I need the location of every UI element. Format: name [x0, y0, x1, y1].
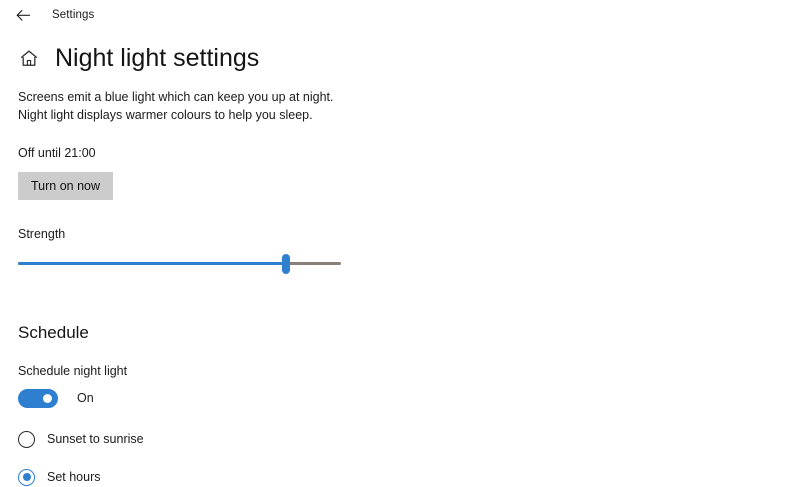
radio-sunset-to-sunrise[interactable]: Sunset to sunrise [18, 429, 782, 449]
night-light-status: Off until 21:00 [18, 145, 782, 161]
page-description: Screens emit a blue light which can keep… [18, 88, 348, 124]
schedule-night-light-toggle[interactable] [18, 389, 58, 408]
home-icon[interactable] [18, 47, 40, 69]
back-button[interactable] [10, 4, 36, 26]
turn-on-now-button[interactable]: Turn on now [18, 172, 113, 200]
page-title: Night light settings [55, 43, 259, 73]
radio-icon-selected [18, 469, 35, 486]
radio-label-sunset-to-sunrise: Sunset to sunrise [47, 431, 144, 447]
settings-page: Night light settings Screens emit a blue… [0, 41, 800, 487]
schedule-night-light-label: Schedule night light [18, 363, 782, 379]
schedule-heading: Schedule [18, 322, 782, 344]
toggle-state-label: On [77, 390, 94, 406]
window-title: Settings [52, 9, 94, 21]
radio-icon-unselected [18, 431, 35, 448]
page-header: Night light settings [18, 41, 782, 75]
radio-label-set-hours: Set hours [47, 469, 101, 485]
slider-fill [18, 262, 286, 265]
schedule-toggle-row: On [18, 388, 782, 408]
toggle-knob [43, 394, 52, 403]
strength-slider[interactable] [18, 252, 341, 276]
radio-dot [23, 473, 31, 481]
radio-set-hours[interactable]: Set hours [18, 467, 782, 487]
back-arrow-icon [16, 9, 31, 22]
title-bar: Settings [0, 0, 800, 30]
strength-label: Strength [18, 226, 782, 242]
slider-thumb[interactable] [282, 254, 290, 274]
